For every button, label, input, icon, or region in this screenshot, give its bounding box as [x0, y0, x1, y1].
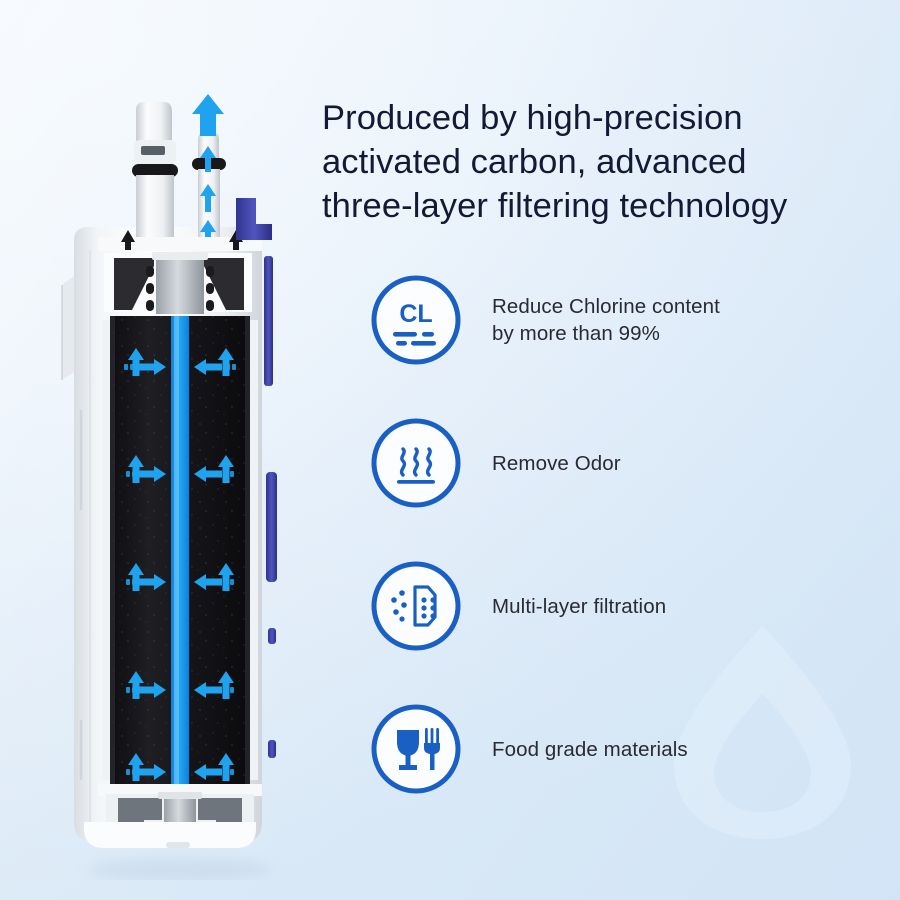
feature-label-food-grade: Food grade materials — [492, 736, 688, 763]
heading-line-3: three-layer filtering technology — [322, 184, 888, 228]
infographic-canvas: Produced by high-precision activated car… — [0, 0, 900, 900]
heading-line-1: Produced by high-precision — [322, 96, 888, 140]
feature-row-odor: Remove Odor — [368, 415, 888, 511]
multi-layer-membrane-icon — [368, 558, 464, 654]
feature-list: CL Reduce Chlorine content by more than … — [368, 272, 888, 797]
cl-chlorine-icon: CL — [368, 272, 464, 368]
feature-row-filtration: Multi-layer filtration — [368, 558, 888, 654]
page-title: Produced by high-precision activated car… — [322, 96, 888, 228]
refrigerator-water-filter-cutaway — [40, 80, 320, 880]
heading-line-2: activated carbon, advanced — [322, 140, 888, 184]
feature-label-chlorine: Reduce Chlorine content by more than 99% — [492, 293, 720, 347]
feature-label-filtration: Multi-layer filtration — [492, 593, 666, 620]
glass-fork-food-grade-icon — [368, 701, 464, 797]
feature-row-chlorine: CL Reduce Chlorine content by more than … — [368, 272, 888, 368]
svg-text:CL: CL — [399, 300, 432, 328]
feature-row-food-grade: Food grade materials — [368, 701, 888, 797]
feature-label-odor: Remove Odor — [492, 450, 621, 477]
odor-waves-icon — [368, 415, 464, 511]
